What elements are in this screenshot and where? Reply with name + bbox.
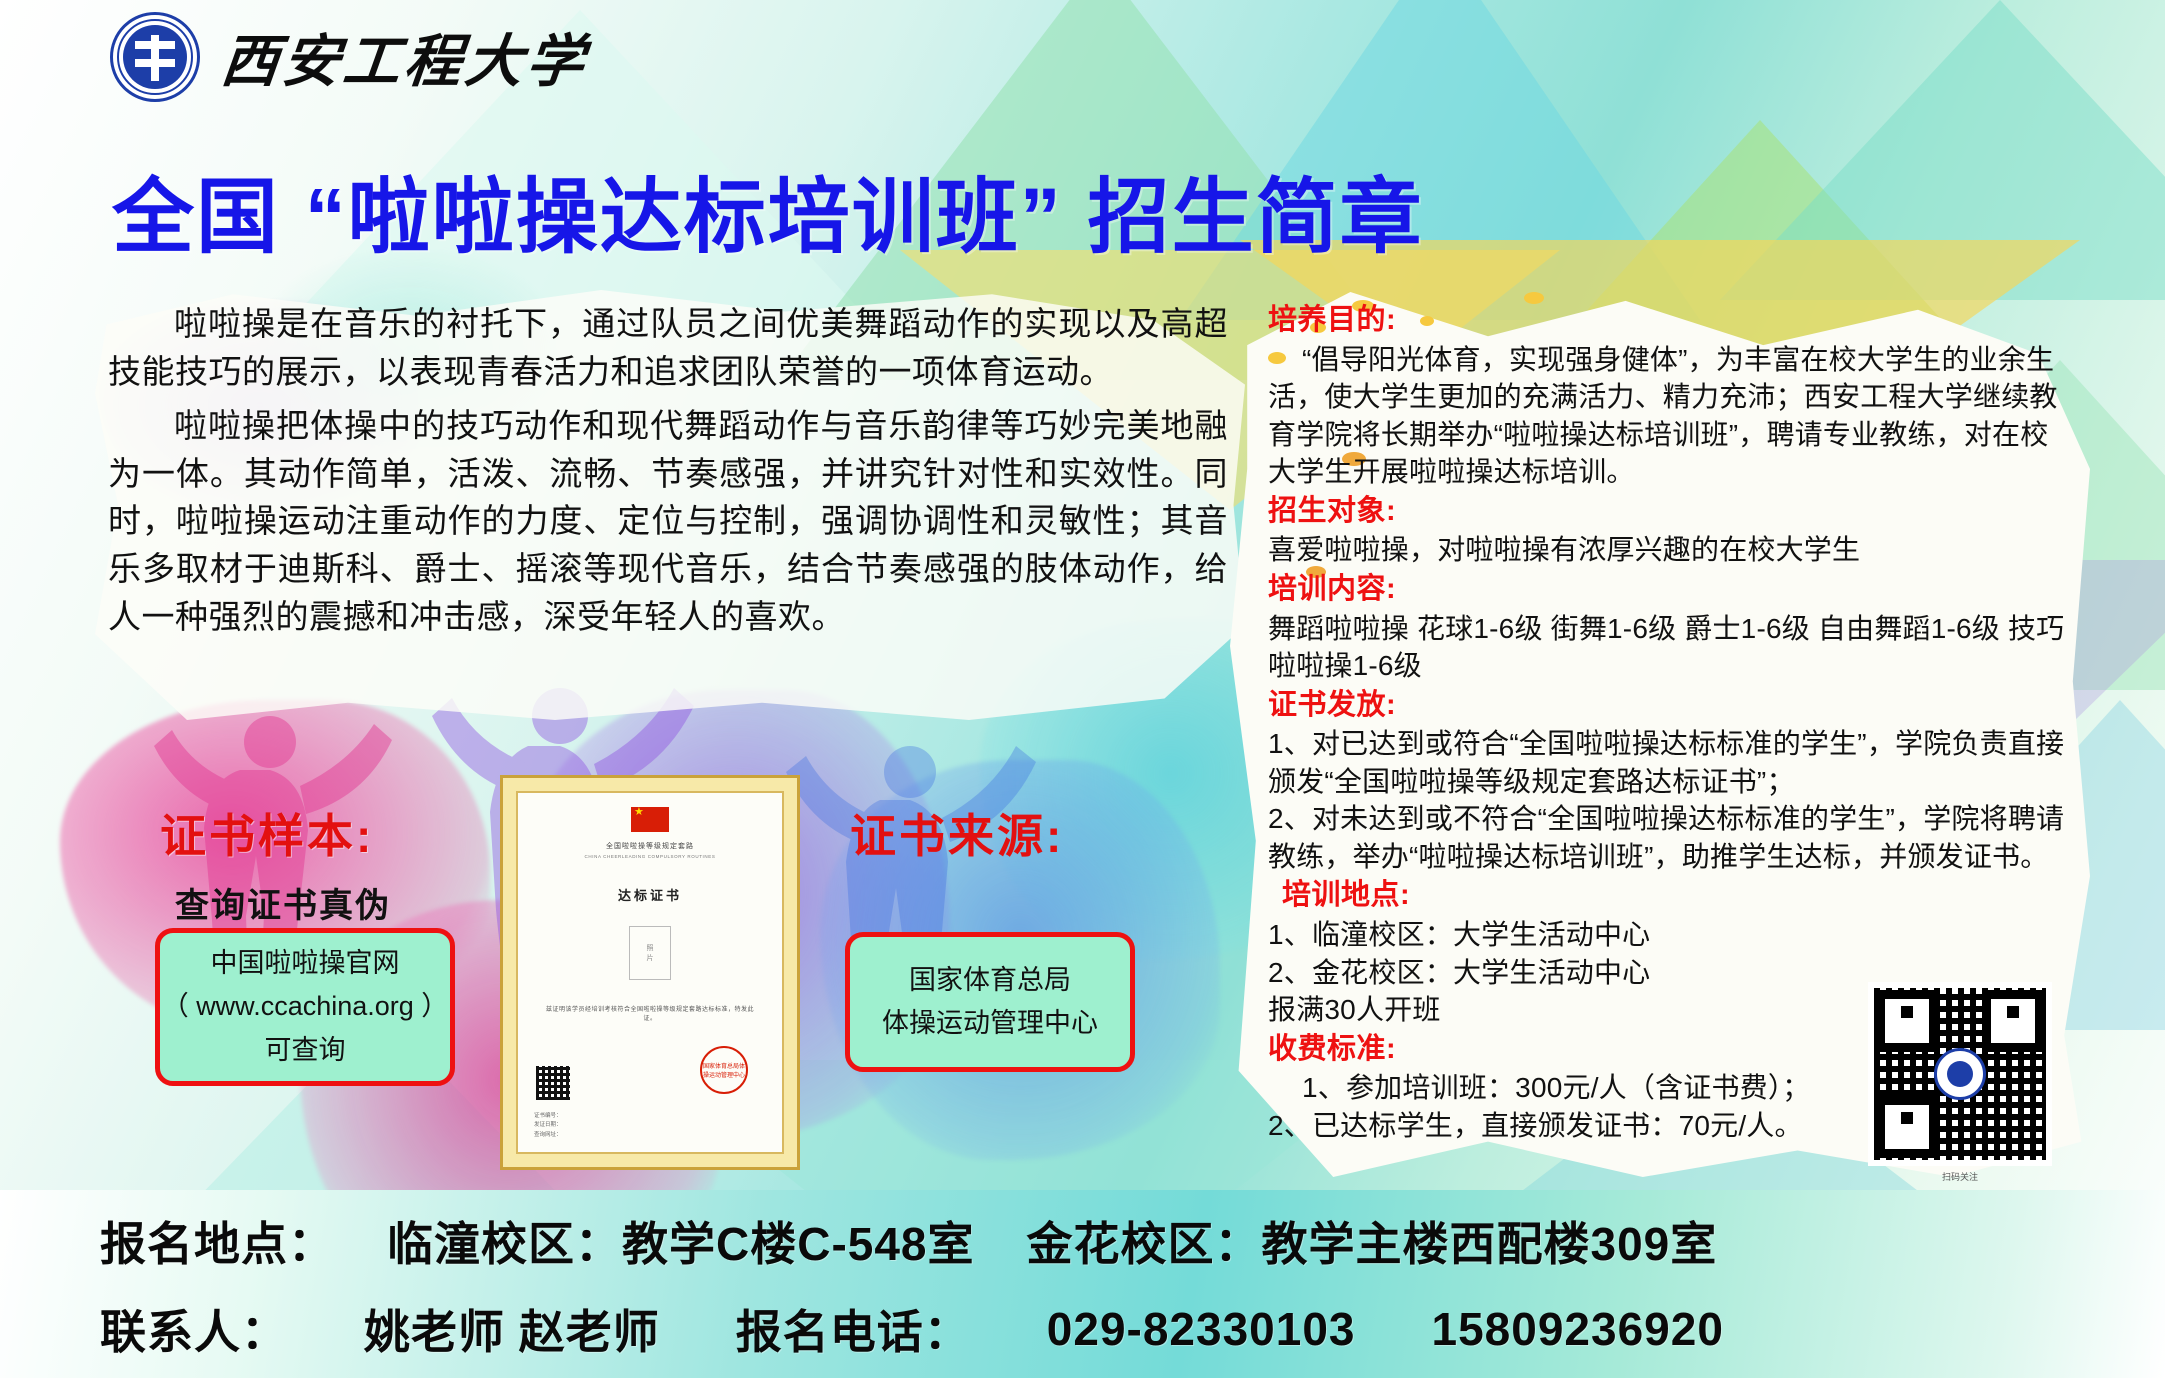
footer-location-label: 报名地点：: [100, 1208, 335, 1274]
certificate-body-text: 兹证明该学员经培训考核符合全国啦啦操等级规定套路达标标准，特发此证。: [544, 1004, 755, 1022]
section-heading-purpose: 培养目的:: [1268, 302, 2068, 340]
qr-code[interactable]: [1868, 982, 2052, 1166]
certificate-source-box[interactable]: 国家体育总局 体操运动管理中心: [845, 932, 1135, 1072]
university-name: 西安工程大学: [218, 16, 593, 98]
intro-text-column: 啦啦操是在音乐的衬托下，通过队员之间优美舞蹈动作的实现以及高超技能技巧的展示，以…: [108, 300, 1228, 647]
footer-phone-1[interactable]: 029-82330103: [1047, 1302, 1356, 1356]
certificate-query-box[interactable]: 中国啦啦操官网 （ www.ccachina.org ） 可查询: [155, 928, 455, 1086]
footer-line-contact: 联系人： 姚老师 赵老师 报名电话： 029-82330103 15809236…: [0, 1296, 2165, 1362]
query-box-line-2: （ www.ccachina.org ）: [162, 989, 449, 1024]
footer-contact-names: 姚老师 赵老师: [364, 1296, 660, 1362]
footer-phone-2[interactable]: 15809236920: [1432, 1302, 1724, 1356]
section-heading-certificate-issue: 证书发放:: [1268, 687, 2068, 725]
intro-paragraph-1: 啦啦操是在音乐的衬托下，通过队员之间优美舞蹈动作的实现以及高超技能技巧的展示，以…: [108, 300, 1228, 396]
query-box-line-3: 可查询: [265, 1033, 346, 1068]
section-body-certificate-issue: 1、对已达到或符合“全国啦啦操达标标准的学生”，学院负责直接颁发“全国啦啦操等级…: [1268, 725, 2068, 875]
section-body-purpose: “倡导阳光体育，实现强身健体”，为丰富在校大学生的业余生活，使大学生更加的充满活…: [1268, 341, 2068, 491]
footer-campus-lintong: 临潼校区：教学C楼C-548室: [387, 1208, 975, 1274]
section-heading-audience: 招生对象:: [1268, 493, 2068, 531]
source-box-line-1: 国家体育总局: [909, 963, 1071, 998]
qr-logo-icon: [1934, 1048, 1986, 1100]
qr-finder-icon: [1876, 1096, 1938, 1158]
certificate-name: 达标证书: [618, 885, 682, 904]
certificate-footer: 证书编号： 发证日期： 查询网址：: [534, 1112, 562, 1140]
certificate-qr-icon: [536, 1066, 570, 1100]
qr-finder-icon: [1982, 990, 2044, 1052]
certificate-sample-title: 证书样本:: [160, 800, 374, 866]
footer-line-location: 报名地点： 临潼校区：教学C楼C-548室 金花校区：教学主楼西配楼309室: [0, 1208, 2165, 1274]
page-title: 全国 “啦啦操达标培训班” 招生简章: [112, 150, 2072, 269]
certificate-query-subtitle: 查询证书真伪: [175, 878, 391, 927]
section-heading-content: 培训内容:: [1268, 571, 2068, 609]
poster-header: 西安工程大学: [110, 12, 588, 102]
certificate-seal-icon: 国家体育总局体操运动管理中心: [700, 1046, 748, 1094]
section-heading-location: 培训地点:: [1268, 877, 2068, 915]
certificate-source-title: 证书来源:: [850, 800, 1064, 866]
section-body-content: 舞蹈啦啦操 花球1-6级 街舞1-6级 爵士1-6级 自由舞蹈1-6级 技巧啦啦…: [1268, 610, 2068, 685]
certificate-org-line-en: CHINA CHEERLEADING COMPULSORY ROUTINES: [585, 854, 716, 859]
university-seal-icon: [110, 12, 200, 102]
footer-phone-label: 报名电话：: [736, 1296, 971, 1362]
footer-campus-jinhua: 金花校区：教学主楼西配楼309室: [1027, 1208, 1718, 1274]
certificate-org-line: 全国啦啦操等级规定套路: [606, 841, 694, 851]
footer-contact-label: 联系人：: [100, 1296, 288, 1362]
china-flag-icon: [631, 807, 669, 832]
source-box-line-2: 体操运动管理中心: [882, 1006, 1098, 1041]
poster-content: 西安工程大学 全国 “啦啦操达标培训班” 招生简章 啦啦操是在音乐的衬托下，通过…: [0, 0, 2165, 1378]
section-body-audience: 喜爱啦啦操，对啦啦操有浓厚兴趣的在校大学生: [1268, 531, 2068, 569]
query-box-line-1: 中国啦啦操官网: [211, 946, 400, 981]
poster-root: 西安工程大学 全国 “啦啦操达标培训班” 招生简章 啦啦操是在音乐的衬托下，通过…: [0, 0, 2165, 1378]
intro-paragraph-2: 啦啦操把体操中的技巧动作和现代舞蹈动作与音乐韵律等巧妙完美地融为一体。其动作简单…: [108, 402, 1228, 641]
qr-caption: 扫码关注: [1868, 1170, 2052, 1183]
certificate-sample-image: 全国啦啦操等级规定套路 CHINA CHEERLEADING COMPULSOR…: [500, 775, 800, 1170]
qr-finder-icon: [1876, 990, 1938, 1052]
certificate-photo-placeholder: 照 片: [629, 926, 671, 980]
